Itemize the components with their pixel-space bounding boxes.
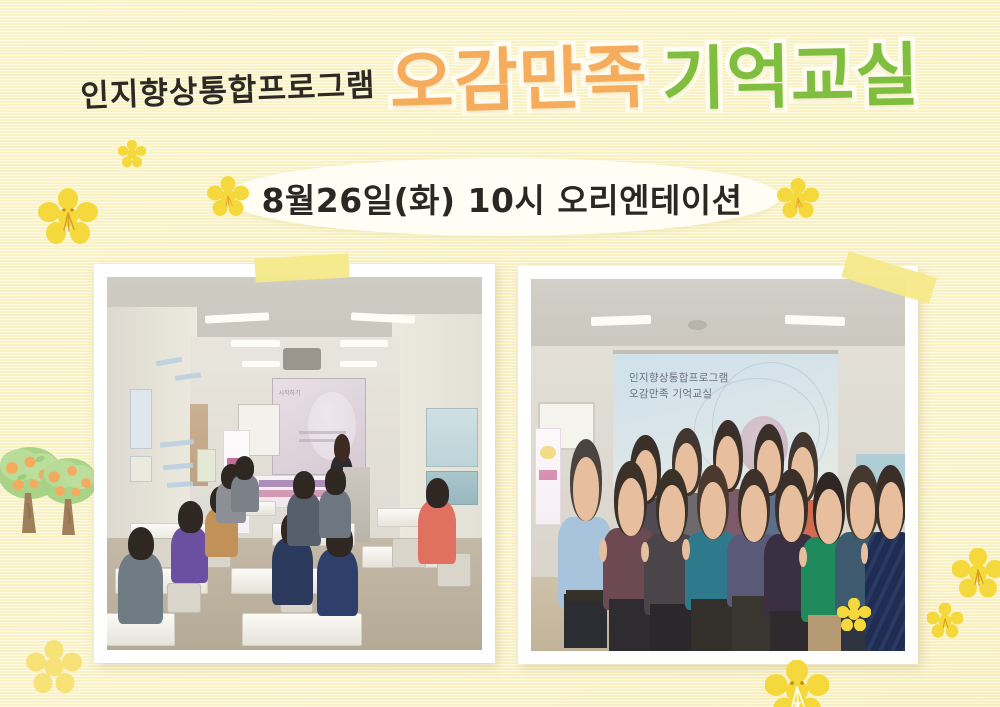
wall-poster: [130, 456, 153, 482]
flower-pill-left-icon: [207, 176, 249, 223]
subtitle-text: 8월26일(화) 10시 오리엔테이션: [224, 159, 780, 237]
member-face: [659, 485, 685, 542]
wall-poster: [197, 449, 216, 483]
projector-screen: 시작하기: [272, 378, 366, 475]
slide-text-block: 인지향상통합프로그램 오감만족 기억교실: [629, 371, 729, 403]
member-belt: [566, 590, 604, 600]
attendee-body: [287, 493, 321, 545]
flower-top-left-icon: [38, 188, 98, 251]
attendee-body: [231, 475, 259, 512]
wall-poster: [130, 389, 153, 449]
ceiling-light: [340, 340, 389, 347]
flower-bottom-right-3-icon: [765, 660, 829, 707]
slide-title-text: 시작하기: [279, 388, 301, 397]
member-face: [618, 478, 644, 536]
flower-top-mid-icon: [118, 140, 146, 173]
title-program-prefix: 인지향상통합프로그램: [80, 59, 377, 115]
attendee-head: [128, 527, 154, 561]
title-main-green: 기억교실: [661, 41, 920, 114]
orange-trees-illustration-icon: [0, 437, 106, 554]
photo-classroom[interactable]: 시작하기: [94, 264, 495, 663]
attendee-head: [235, 456, 254, 480]
classroom-chair: [167, 583, 201, 613]
banner-graphic: [540, 446, 555, 459]
member-face: [573, 457, 599, 520]
flower-photo-edge-icon: [837, 598, 871, 636]
finger-heart-gesture: [861, 543, 868, 563]
attendee-head: [178, 501, 202, 533]
ceiling-light: [340, 361, 378, 367]
attendee-head: [293, 471, 316, 499]
classroom-desk: [242, 613, 362, 647]
attendee-head: [426, 478, 449, 508]
flower-bottom-right-2-icon: [927, 603, 963, 643]
ceiling-light: [231, 340, 280, 347]
finger-heart-gesture: [599, 539, 607, 561]
attendee-body: [319, 490, 351, 538]
flower-pill-right-icon: [777, 178, 819, 225]
classroom-window: [426, 408, 479, 468]
member-trousers: [564, 594, 607, 647]
ceiling-projector: [283, 348, 321, 370]
title-main-orange: 오감만족: [389, 43, 649, 119]
finger-heart-gesture: [641, 542, 649, 562]
member-face: [879, 482, 903, 540]
slide-line-2: 오감만족 기억교실: [629, 387, 729, 403]
photo-classroom-image: 시작하기: [107, 277, 482, 650]
finger-heart-gesture: [799, 547, 807, 567]
ceiling-light: [242, 361, 280, 367]
instructor-head: [334, 434, 350, 462]
poster-title: 인지향상통합프로그램 오감만족 기억교실: [0, 26, 1000, 136]
poster-canvas: 인지향상통합프로그램 오감만족 기억교실 8월26일(화) 10시 오리엔테이션: [0, 0, 1000, 707]
attendee-body: [418, 501, 456, 564]
attendee-body: [272, 538, 313, 605]
tape-left-photo: [254, 254, 349, 283]
attendee-body: [171, 527, 209, 583]
banner-text-block: [539, 470, 557, 479]
flower-bottom-right-1-icon: [952, 548, 1000, 603]
attendee-body: [118, 553, 163, 624]
finger-heart-gesture: [682, 539, 690, 559]
slide-line-1: 인지향상통합프로그램: [629, 371, 729, 387]
ceiling-vent: [688, 320, 707, 330]
attendee-head: [325, 467, 347, 495]
subtitle-banner: 8월26일(화) 10시 오리엔테이션: [224, 158, 780, 236]
member-face: [700, 482, 726, 540]
photo-group-image: 인지향상통합프로그램 오감만족 기억교실: [531, 279, 905, 651]
attendee-body: [317, 549, 358, 616]
flower-bottom-left-icon: [26, 640, 82, 699]
